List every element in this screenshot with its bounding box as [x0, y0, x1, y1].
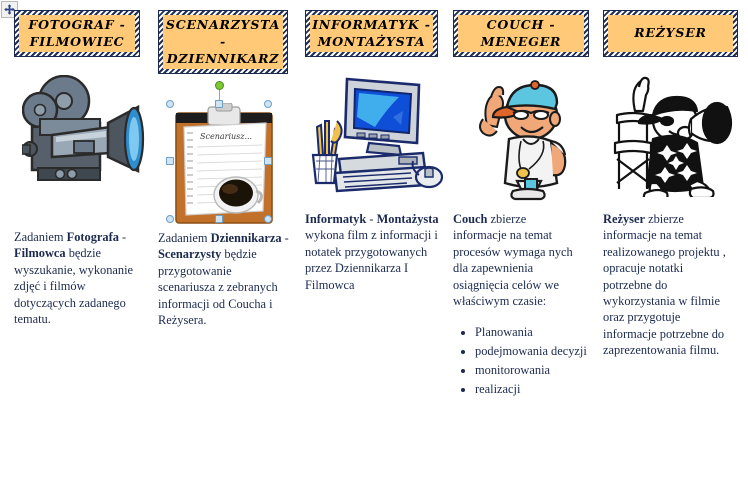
bullet-item: Planowania: [475, 323, 598, 341]
column-paragraph: Zadaniem Dziennikarza - Scenarzysty będz…: [158, 230, 290, 328]
column-fotograf-filmowiec: FOTOGRAF - FILMOWIEC: [0, 0, 152, 492]
column-paragraph: Reżyser zbierze informacje na temat real…: [603, 211, 735, 359]
selection-handle-bottom-right[interactable]: [264, 215, 272, 223]
header-box-informatyk-montazysta[interactable]: INFORMATYK - MONTAŻYSTA: [305, 10, 438, 57]
column-paragraph: Couch zbierze informacje na temat proces…: [453, 211, 581, 309]
header-title: FOTOGRAF - FILMOWIEC: [18, 16, 136, 50]
selection-handle-middle-right[interactable]: [264, 157, 272, 165]
column-bullets: Planowaniapodejmowania decyzjimonitorowa…: [453, 323, 598, 398]
bullet-item: monitorowania: [475, 361, 598, 379]
header-title: COUCH - MENEGER: [457, 16, 585, 50]
selection-handle-top-left[interactable]: [166, 100, 174, 108]
handwritten-note: Scenariusz...: [200, 132, 252, 141]
column-rezyser: REŻYSER: [598, 0, 748, 492]
selection-handle-top-right[interactable]: [264, 100, 272, 108]
column-informatyk-montazysta: INFORMATYK - MONTAŻYSTA: [300, 0, 448, 492]
column-paragraph: Zadaniem Fotografa - Filmowca będzie wys…: [14, 229, 140, 327]
header-box-fotograf-filmowiec[interactable]: FOTOGRAF - FILMOWIEC: [14, 10, 140, 57]
bullet-item: podejmowania decyzji: [475, 342, 598, 360]
selection-handle-bottom-center[interactable]: [215, 215, 223, 223]
bullet-item: realizacji: [475, 380, 598, 398]
header-box-rezyser[interactable]: REŻYSER: [603, 10, 738, 57]
header-title: SCENARZYSTA - DZIENNIKARZ: [162, 16, 284, 67]
column-paragraph: Informatyk - Montażysta wykona film z in…: [305, 211, 441, 293]
column-couch-meneger: COUCH - MENEGER: [448, 0, 598, 492]
column-grid: FOTOGRAF - FILMOWIEC: [0, 0, 748, 492]
slide-canvas: FOTOGRAF - FILMOWIEC: [0, 0, 748, 492]
selection-handle-middle-left[interactable]: [166, 157, 174, 165]
header-box-scenarzysta-dziennikarz[interactable]: SCENARZYSTA - DZIENNIKARZ: [158, 10, 288, 74]
film-director-image[interactable]: [603, 71, 748, 203]
header-box-couch-meneger[interactable]: COUCH - MENEGER: [453, 10, 589, 57]
selection-handle-bottom-left[interactable]: [166, 215, 174, 223]
clipboard-notepad-coffee-image[interactable]: Scenariusz...: [158, 74, 300, 222]
rotate-handle[interactable]: [215, 81, 224, 90]
column-scenarzysta-dziennikarz: SCENARZYSTA - DZIENNIKARZ: [152, 0, 300, 492]
coach-cartoon-image[interactable]: [453, 71, 598, 203]
selection-handle-top-center[interactable]: [215, 100, 223, 108]
film-camera-image[interactable]: [14, 71, 152, 203]
header-title: INFORMATYK - MONTAŻYSTA: [309, 16, 434, 50]
desktop-computer-image[interactable]: [305, 71, 448, 203]
header-title: REŻYSER: [607, 16, 734, 50]
